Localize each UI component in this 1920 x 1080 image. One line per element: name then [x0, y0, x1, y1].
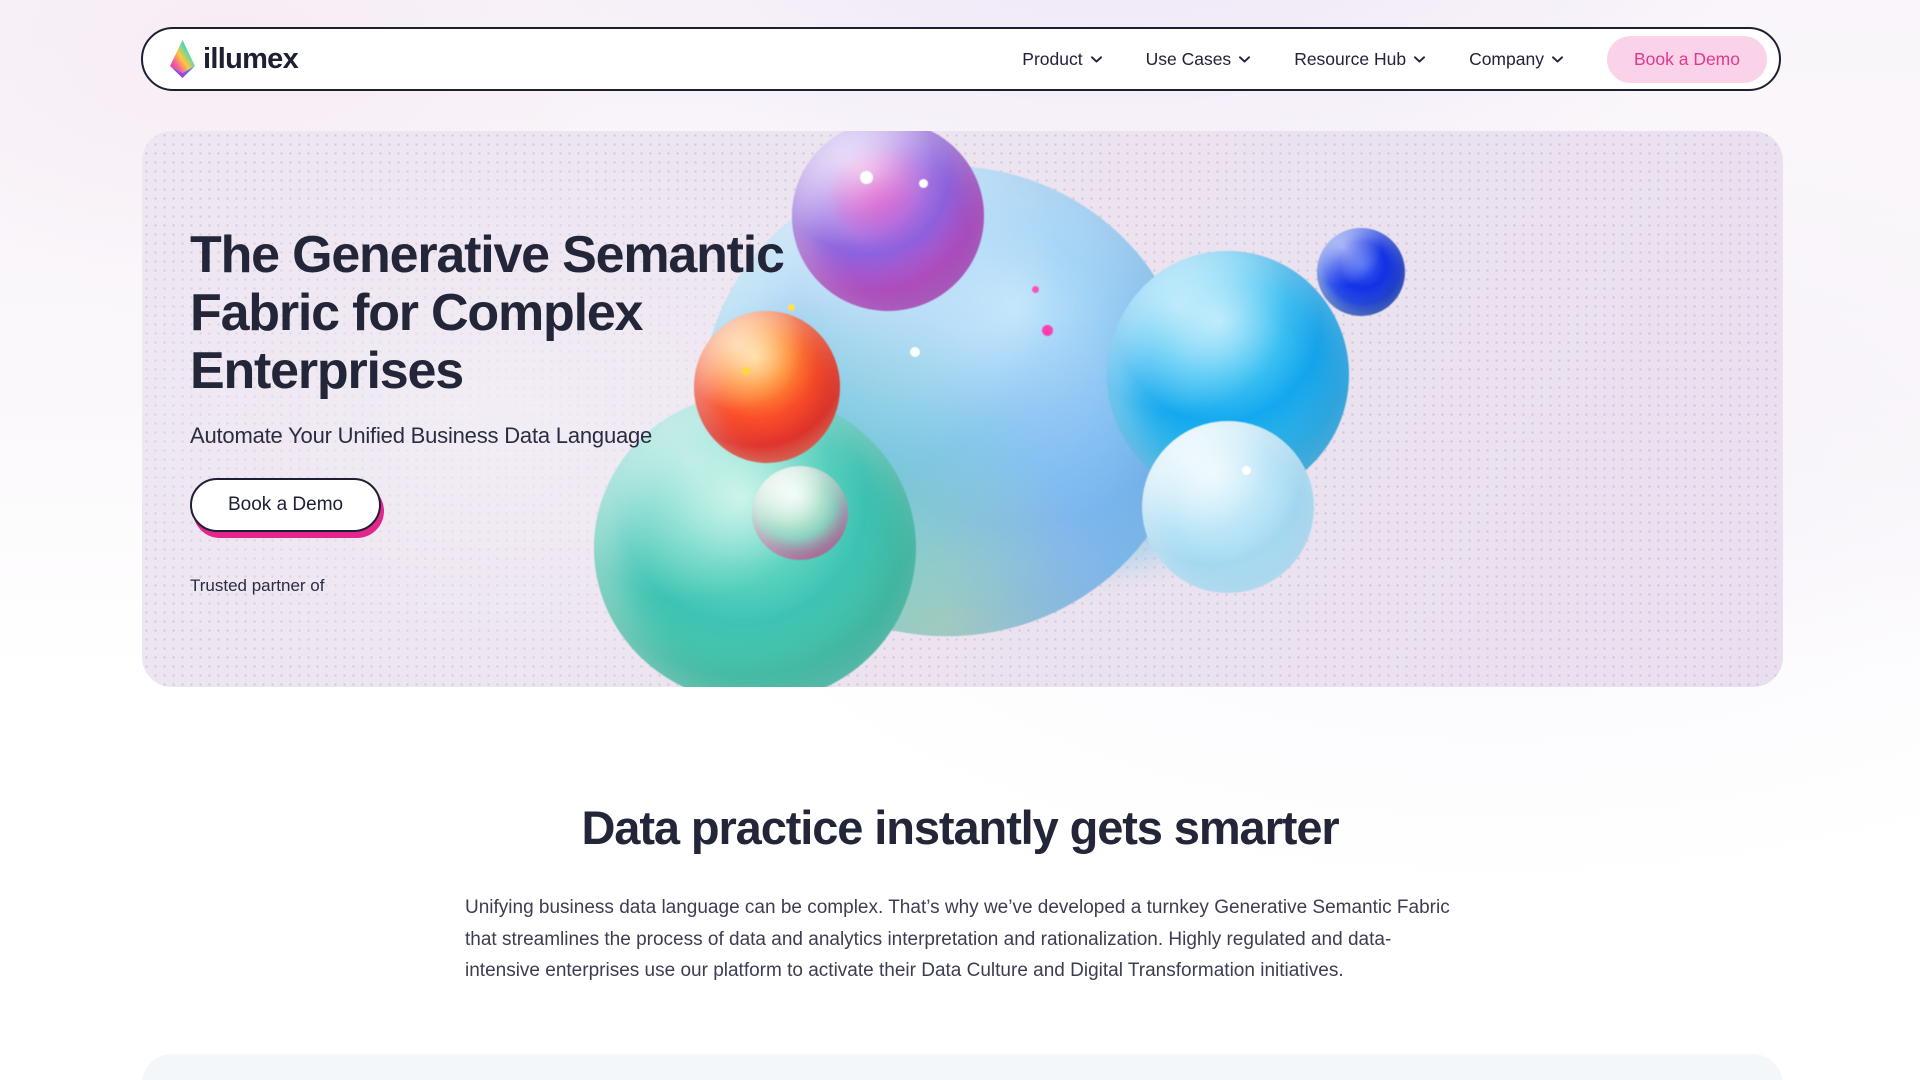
- section-body-text: Unifying business data language can be c…: [465, 892, 1455, 987]
- bubble-specular-highlight: [910, 347, 920, 357]
- nav-item-use-cases[interactable]: Use Cases: [1124, 39, 1273, 80]
- nav-item-company[interactable]: Company: [1447, 39, 1585, 80]
- hero-title: The Generative Semantic Fabric for Compl…: [190, 226, 830, 401]
- nav-item-resource-hub[interactable]: Resource Hub: [1272, 39, 1447, 80]
- illumex-flame-logo-icon: [169, 40, 196, 78]
- chevron-down-icon: [1414, 56, 1425, 63]
- trusted-partner-label: Trusted partner of: [190, 576, 830, 596]
- chevron-down-icon: [1239, 56, 1250, 63]
- header-book-a-demo-button[interactable]: Book a Demo: [1607, 36, 1767, 83]
- value-prop-section: Data practice instantly gets smarter Uni…: [0, 800, 1920, 987]
- hero-subtitle: Automate Your Unified Business Data Lang…: [190, 423, 830, 449]
- nav-item-product[interactable]: Product: [1000, 39, 1123, 80]
- site-header: illumex Product Use Cases Resource Hub C…: [141, 27, 1781, 91]
- bubble-specular-highlight: [1042, 325, 1053, 336]
- main-nav: Product Use Cases Resource Hub Company B…: [1000, 36, 1767, 83]
- hero-cta-wrapper: Book a Demo: [190, 478, 381, 532]
- brand-logo[interactable]: illumex: [169, 40, 298, 78]
- chevron-down-icon: [1091, 56, 1102, 63]
- section-title: Data practice instantly gets smarter: [0, 800, 1920, 855]
- hero-panel: The Generative Semantic Fabric for Compl…: [142, 131, 1783, 687]
- next-section-panel: [142, 1054, 1783, 1080]
- bubble-specular-highlight: [919, 179, 928, 188]
- bubble-deep-blue: [1317, 228, 1405, 316]
- nav-item-label: Resource Hub: [1294, 49, 1406, 70]
- bubble-specular-highlight: [860, 171, 873, 184]
- bubble-purple-glow: [832, 149, 940, 245]
- chevron-down-icon: [1552, 56, 1563, 63]
- hero-book-a-demo-button[interactable]: Book a Demo: [190, 478, 381, 532]
- bubble-specular-highlight: [1242, 466, 1251, 475]
- bubble-specular-highlight: [1032, 286, 1039, 293]
- bubble-pale: [1142, 421, 1314, 593]
- nav-item-label: Company: [1469, 49, 1544, 70]
- brand-name: illumex: [203, 45, 298, 74]
- hero-copy: The Generative Semantic Fabric for Compl…: [190, 226, 830, 596]
- nav-item-label: Use Cases: [1146, 49, 1232, 70]
- nav-item-label: Product: [1022, 49, 1082, 70]
